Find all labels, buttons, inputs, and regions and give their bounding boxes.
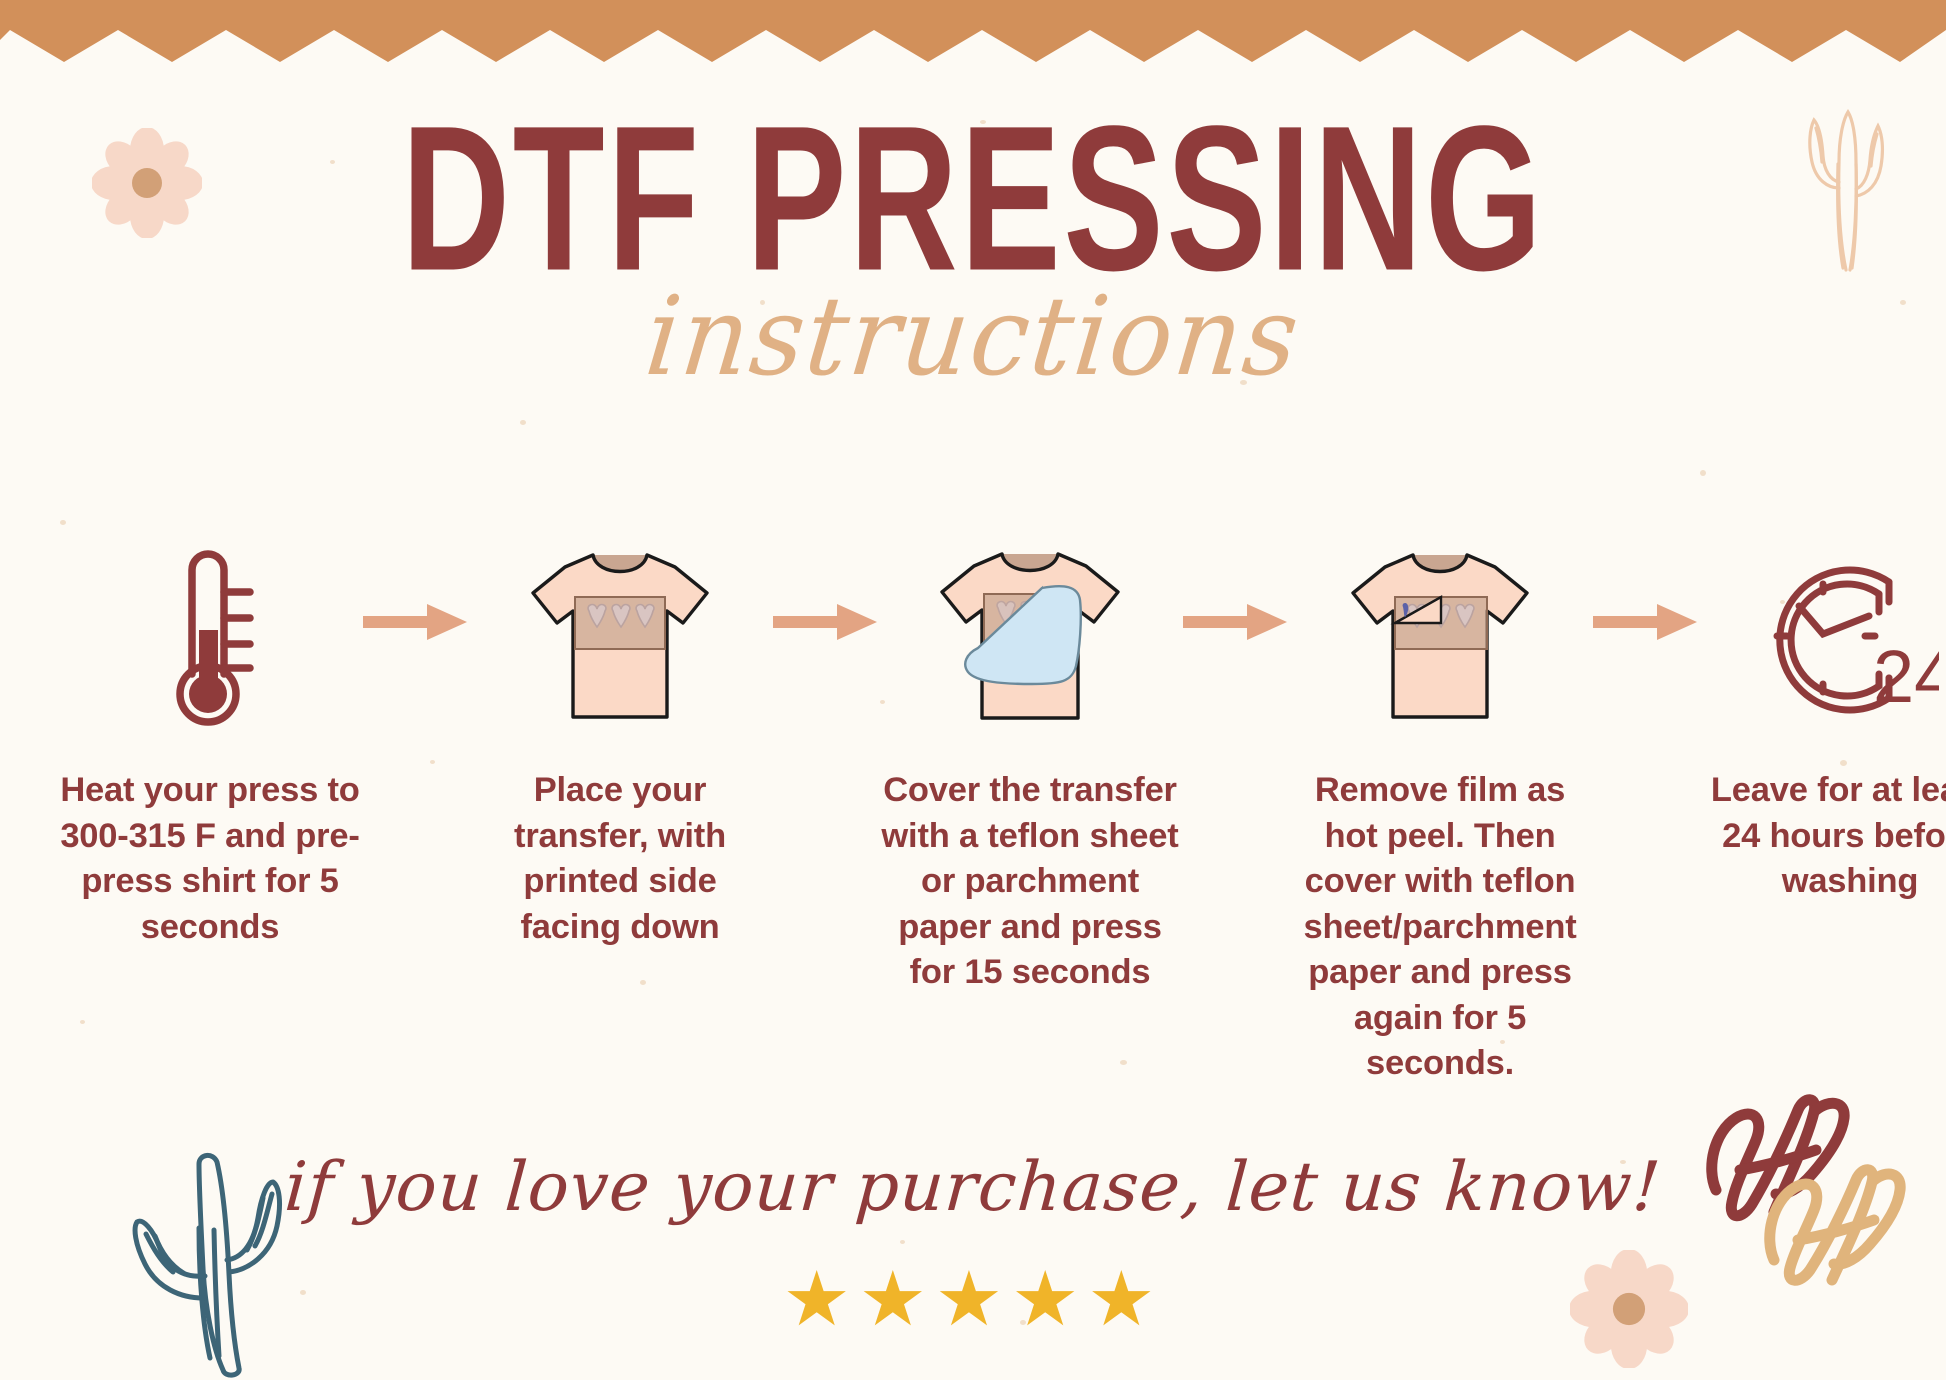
arrow-right-icon — [773, 602, 877, 642]
step-4: Remove film as hot peel. Then cover with… — [1290, 540, 1590, 1087]
poster-canvas: DTF PRESSING instructions — [0, 0, 1946, 1380]
step-4-text: Remove film as hot peel. Then cover with… — [1290, 768, 1590, 1087]
star-icon: ★ — [935, 1257, 1011, 1342]
star-icon: ★ — [783, 1257, 859, 1342]
step-3: Cover the transfer with a teflon sheet o… — [880, 540, 1180, 996]
page-subtitle: instructions — [0, 275, 1946, 397]
step-1-text: Heat your press to 300-315 F and pre-pre… — [60, 768, 360, 950]
clock-24-icon: 24 — [1761, 550, 1939, 720]
star-icon: ★ — [859, 1257, 935, 1342]
tshirt-transfer-icon — [525, 545, 715, 725]
tshirt-teflon-cover-icon — [932, 544, 1128, 726]
arrow-right-icon — [1593, 602, 1697, 642]
page-title: DTF PRESSING — [0, 96, 1946, 271]
page-subtitle-text: instructions — [640, 272, 1306, 400]
arrow-3 — [1180, 602, 1290, 642]
step-2: Place your transfer, with printed side f… — [470, 540, 770, 950]
arrow-1 — [360, 602, 470, 642]
step-5-icon-wrap: 24 — [1761, 540, 1939, 730]
arrow-right-icon — [363, 602, 467, 642]
step-5: 24 Leave for at least 24 hours before wa… — [1700, 540, 1946, 905]
step-1-icon-wrap — [156, 540, 264, 730]
thermometer-icon — [156, 542, 264, 728]
step-3-text: Cover the transfer with a teflon sheet o… — [880, 768, 1180, 996]
star-icon: ★ — [1011, 1257, 1087, 1342]
star-icon: ★ — [1087, 1257, 1163, 1342]
step-3-icon-wrap — [932, 540, 1128, 730]
arrow-right-icon — [1183, 602, 1287, 642]
star-rating: ★★★★★ — [0, 1262, 1946, 1338]
top-zigzag-band — [0, 0, 1946, 62]
arrow-4 — [1590, 602, 1700, 642]
footer-message: if you love your purchase, let us know! — [0, 1148, 1946, 1227]
tshirt-peel-film-icon — [1345, 545, 1535, 725]
step-5-text: Leave for at least 24 hours before washi… — [1700, 768, 1946, 905]
clock-hours-label: 24 — [1873, 635, 1939, 718]
step-4-icon-wrap — [1345, 540, 1535, 730]
step-2-text: Place your transfer, with printed side f… — [470, 768, 770, 950]
steps-row: Heat your press to 300-315 F and pre-pre… — [60, 540, 1886, 1087]
step-1: Heat your press to 300-315 F and pre-pre… — [60, 540, 360, 950]
step-2-icon-wrap — [525, 540, 715, 730]
footer-message-text: if you love your purchase, let us know! — [282, 1148, 1663, 1227]
arrow-2 — [770, 602, 880, 642]
